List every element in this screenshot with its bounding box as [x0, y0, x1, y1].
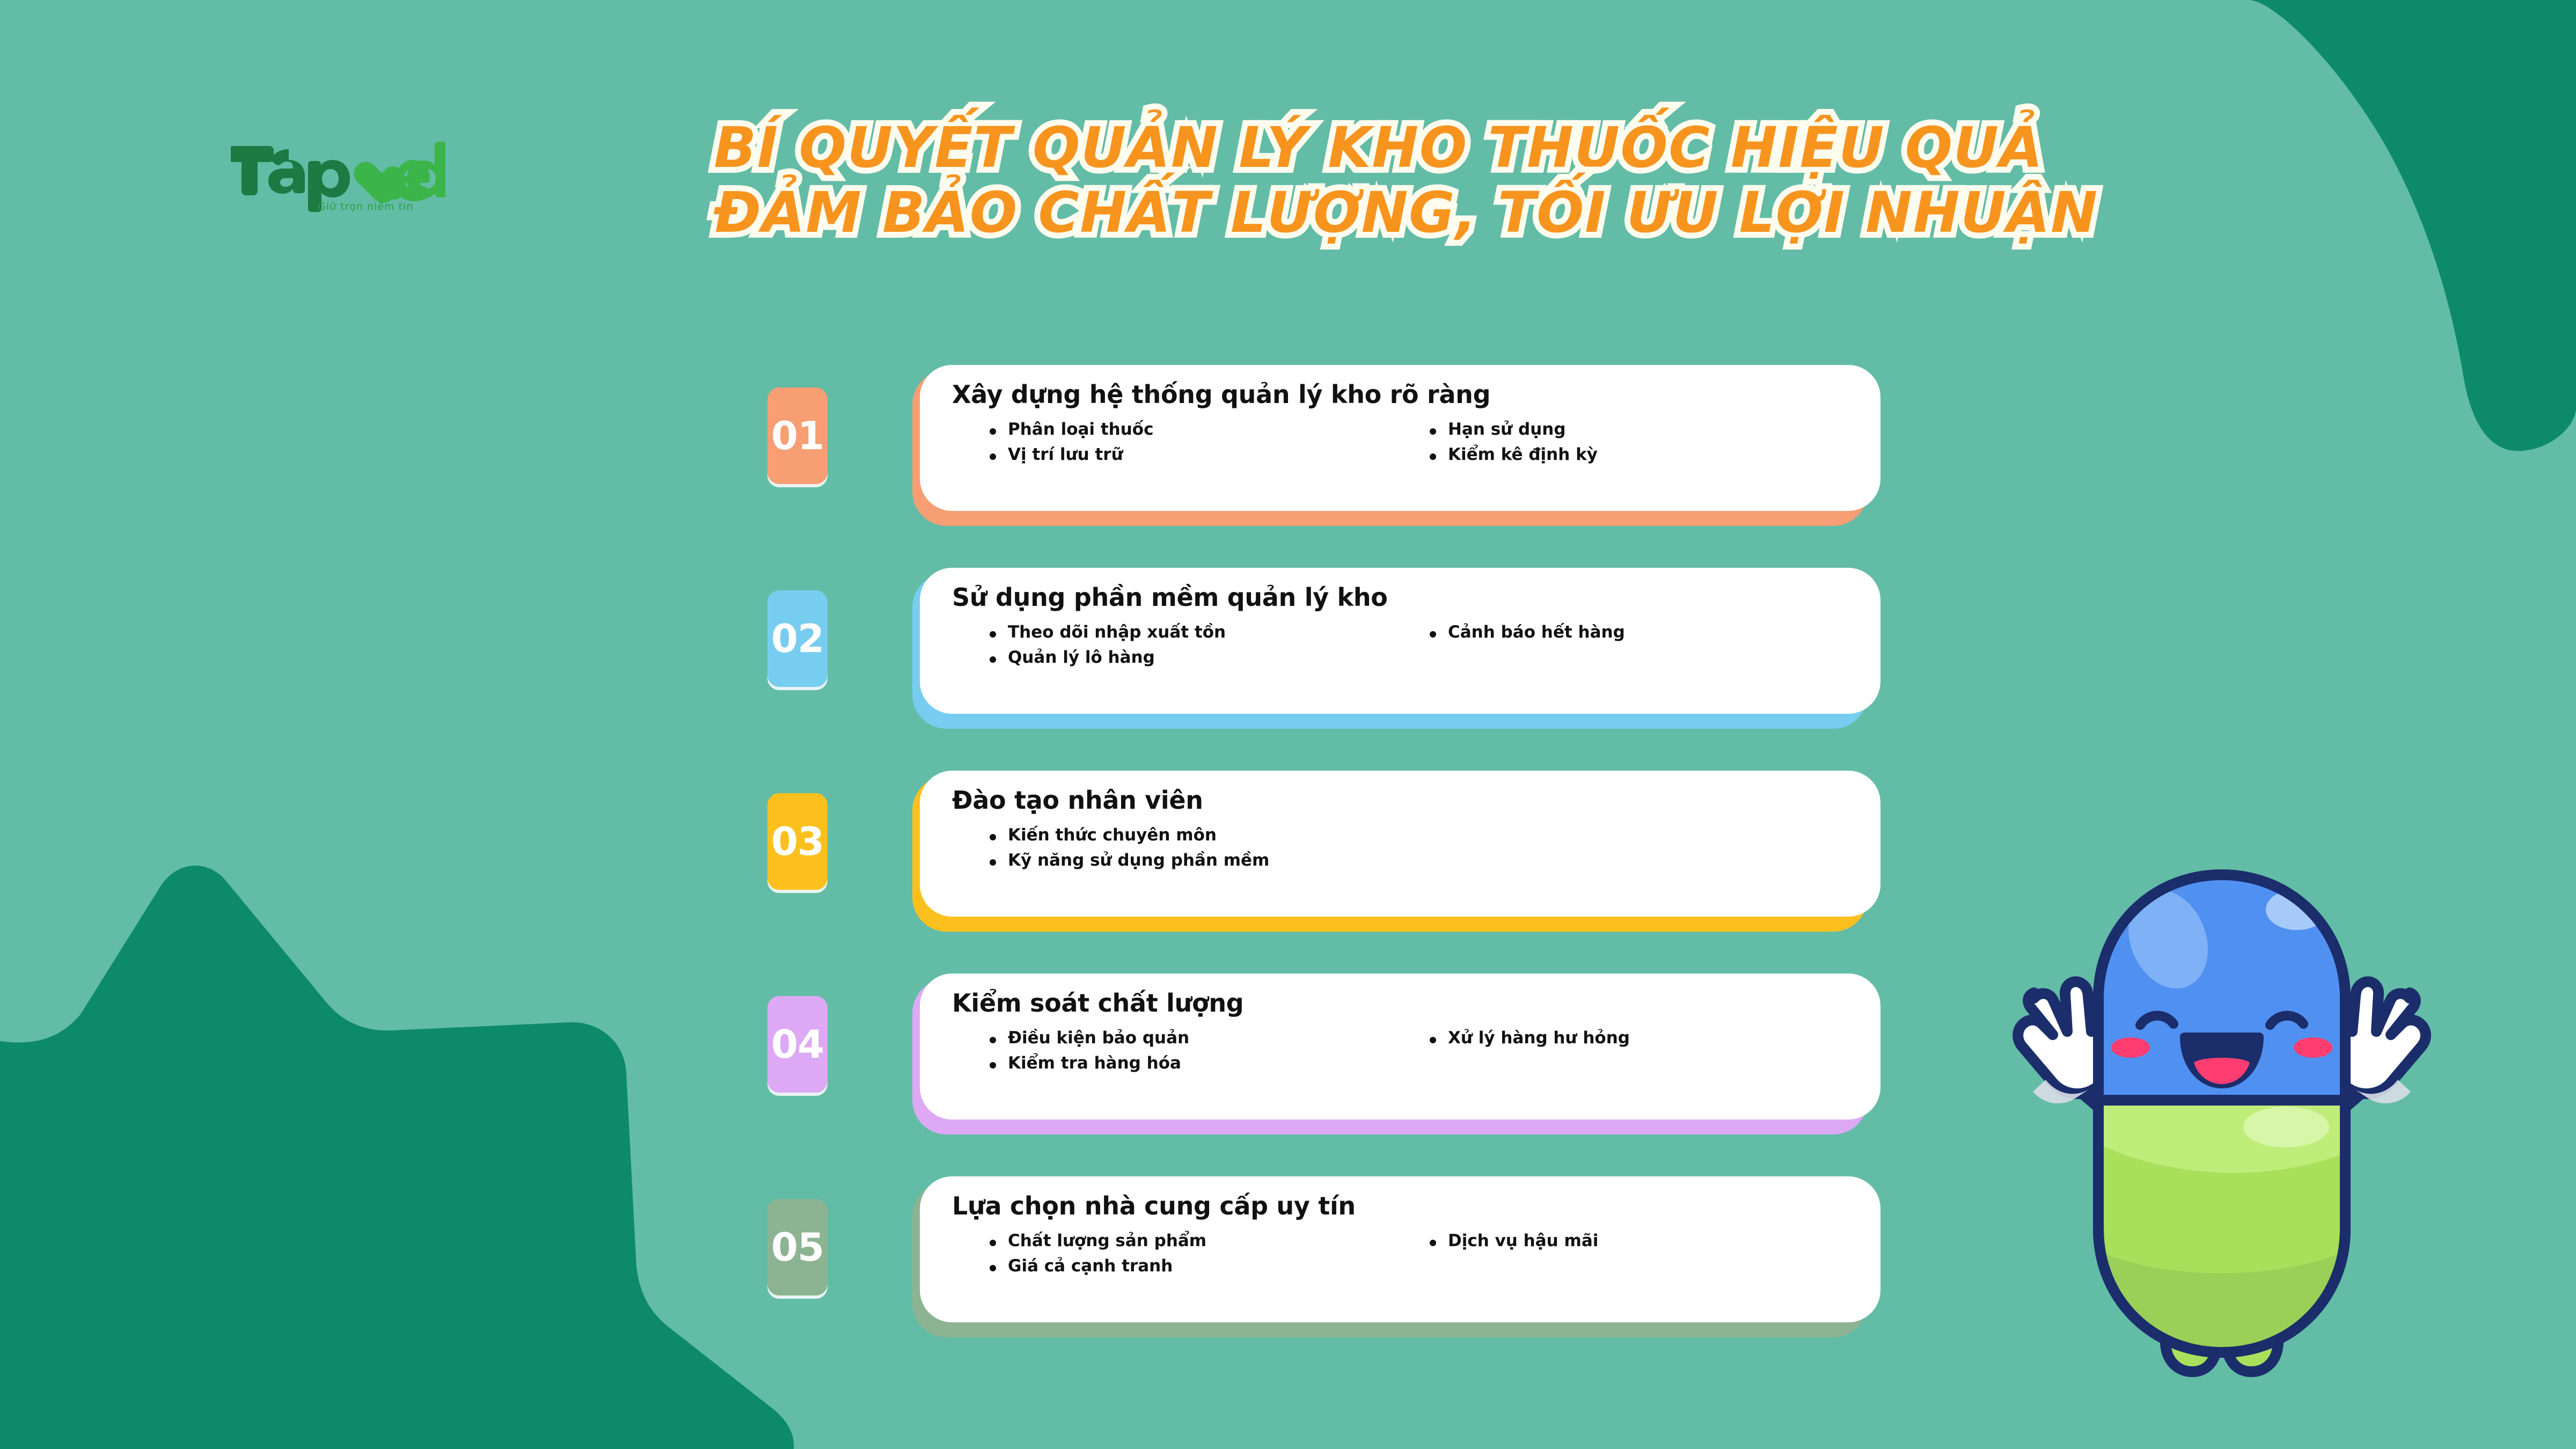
step-badge: 05 — [767, 1199, 828, 1296]
step-number: 01 — [771, 416, 824, 455]
step-card[interactable]: Kiểm soát chất lượng Điều kiện bảo quản … — [912, 974, 1937, 1135]
bullet-column-right: Xử lý hàng hư hỏng — [1392, 1026, 1832, 1076]
page-title-line-2: ĐẢM BẢO CHẤT LƯỢNG, TỐI ƯU LỢI NHUẬN — [714, 180, 2002, 245]
step-bullets: Điều kiện bảo quản Kiểm tra hàng hóa Xử … — [952, 1026, 1848, 1076]
bullet-column-left: Điều kiện bảo quản Kiểm tra hàng hóa — [952, 1026, 1392, 1076]
step-badge: 04 — [767, 996, 828, 1093]
infographic-canvas: Giữ trọn niềm tin BÍ QUYẾT QUẢN LÝ KHO T… — [0, 0, 2576, 1449]
step-bullets: Kiến thức chuyên môn Kỹ năng sử dụng phầ… — [952, 823, 1848, 873]
step-card[interactable]: Lựa chọn nhà cung cấp uy tín Chất lượng … — [912, 1176, 1937, 1337]
card-surface: Kiểm soát chất lượng Điều kiện bảo quản … — [920, 974, 1880, 1119]
step-number: 03 — [771, 822, 824, 861]
bullet-column-right — [1392, 823, 1832, 873]
list-item: Điều kiện bảo quản — [986, 1026, 1392, 1051]
step-title: Kiểm soát chất lượng — [952, 989, 1848, 1018]
list-item: Kiểm tra hàng hóa — [986, 1051, 1392, 1076]
step-title: Sử dụng phần mềm quản lý kho — [952, 583, 1848, 612]
brand-logo[interactable]: Giữ trọn niềm tin — [231, 134, 445, 215]
bullet-column-left: Theo dõi nhập xuất tồn Quản lý lô hàng — [952, 620, 1392, 670]
list-item: Xử lý hàng hư hỏng — [1426, 1026, 1832, 1051]
list-item: Theo dõi nhập xuất tồn — [986, 620, 1392, 645]
logo-tagline: Giữ trọn niềm tin — [318, 201, 413, 213]
bullet-column-right: Dịch vụ hậu mãi — [1392, 1228, 1832, 1279]
step-number: 05 — [771, 1228, 824, 1267]
step-title: Xây dựng hệ thống quản lý kho rõ ràng — [952, 380, 1848, 409]
bullet-column-right: Hạn sử dụng Kiểm kê định kỳ — [1392, 417, 1832, 467]
star-bottom-left — [0, 866, 794, 1449]
mascot-left-cheek — [2111, 1037, 2150, 1058]
bullet-column-left: Phân loại thuốc Vị trí lưu trữ — [952, 417, 1392, 467]
step-card[interactable]: Đào tạo nhân viên Kiến thức chuyên môn K… — [912, 771, 1937, 932]
steps-list: 01 Xây dựng hệ thống quản lý kho rõ ràng… — [767, 365, 1937, 1368]
bullet-column-right: Cảnh báo hết hàng — [1392, 620, 1832, 670]
page-title: BÍ QUYẾT QUẢN LÝ KHO THUỐC HIỆU QUẢ ĐẢM … — [714, 115, 2002, 245]
list-item[interactable]: 02 Sử dụng phần mềm quản lý kho Theo dõi… — [767, 568, 1937, 729]
list-item: Vị trí lưu trữ — [986, 442, 1392, 467]
card-surface: Đào tạo nhân viên Kiến thức chuyên môn K… — [920, 771, 1880, 917]
list-item: Kiến thức chuyên môn — [986, 823, 1392, 848]
list-item[interactable]: 03 Đào tạo nhân viên Kiến thức chuyên mô… — [767, 771, 1937, 932]
list-item[interactable]: 04 Kiểm soát chất lượng Điều kiện bảo qu… — [767, 974, 1937, 1135]
step-bullets: Chất lượng sản phẩm Giá cả cạnh tranh Dị… — [952, 1228, 1848, 1279]
step-number: 02 — [771, 619, 824, 658]
card-surface: Lựa chọn nhà cung cấp uy tín Chất lượng … — [920, 1176, 1880, 1322]
blob-top-right — [2249, 0, 2576, 451]
list-item: Chất lượng sản phẩm — [986, 1228, 1392, 1254]
list-item: Cảnh báo hết hàng — [1426, 620, 1832, 645]
step-title: Đào tạo nhân viên — [952, 786, 1848, 815]
list-item: Dịch vụ hậu mãi — [1426, 1228, 1832, 1254]
page-title-line-1: BÍ QUYẾT QUẢN LÝ KHO THUỐC HIỆU QUẢ — [714, 115, 2002, 180]
card-surface: Sử dụng phần mềm quản lý kho Theo dõi nh… — [920, 568, 1880, 714]
step-card[interactable]: Xây dựng hệ thống quản lý kho rõ ràng Ph… — [912, 365, 1937, 526]
list-item[interactable]: 01 Xây dựng hệ thống quản lý kho rõ ràng… — [767, 365, 1937, 526]
step-badge: 01 — [767, 387, 828, 484]
step-title: Lựa chọn nhà cung cấp uy tín — [952, 1191, 1848, 1221]
bullet-column-left: Kiến thức chuyên môn Kỹ năng sử dụng phầ… — [952, 823, 1392, 873]
list-item: Kỹ năng sử dụng phần mềm — [986, 848, 1392, 873]
list-item[interactable]: 05 Lựa chọn nhà cung cấp uy tín Chất lượ… — [767, 1176, 1937, 1337]
list-item: Quản lý lô hàng — [986, 645, 1392, 670]
pill-capsule-mascot-icon — [1953, 837, 2490, 1406]
step-badge: 03 — [767, 793, 828, 890]
step-bullets: Phân loại thuốc Vị trí lưu trữ Hạn sử dụ… — [952, 417, 1848, 467]
step-bullets: Theo dõi nhập xuất tồn Quản lý lô hàng C… — [952, 620, 1848, 670]
step-number: 04 — [771, 1025, 824, 1064]
bullet-column-left: Chất lượng sản phẩm Giá cả cạnh tranh — [952, 1228, 1392, 1279]
list-item: Giá cả cạnh tranh — [986, 1254, 1392, 1279]
step-badge: 02 — [767, 590, 828, 687]
mascot-right-cheek — [2294, 1037, 2332, 1058]
list-item: Hạn sử dụng — [1426, 417, 1832, 442]
card-surface: Xây dựng hệ thống quản lý kho rõ ràng Ph… — [920, 365, 1880, 511]
list-item: Kiểm kê định kỳ — [1426, 442, 1832, 467]
mascot-body — [2088, 837, 2356, 1385]
list-item: Phân loại thuốc — [986, 417, 1392, 442]
step-card[interactable]: Sử dụng phần mềm quản lý kho Theo dõi nh… — [912, 568, 1937, 729]
